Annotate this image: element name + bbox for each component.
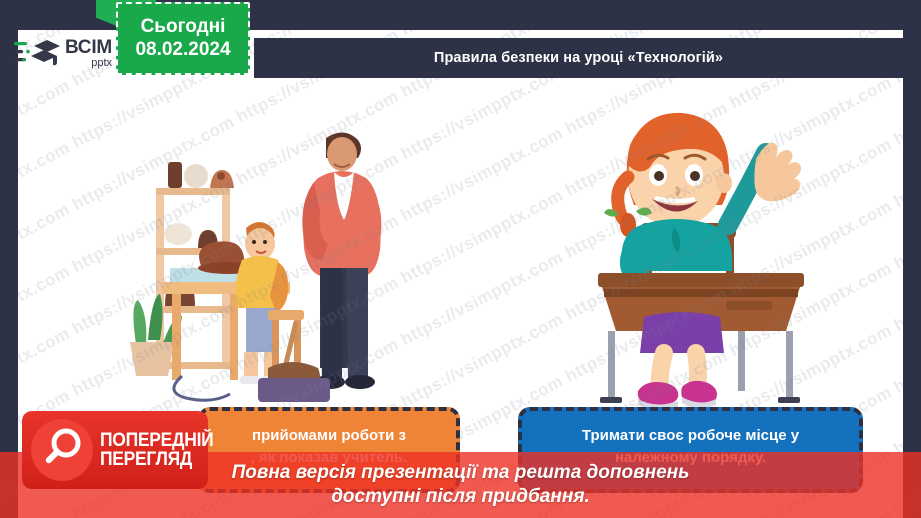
- rule-orange-line-1: прийомами роботи з: [252, 425, 406, 447]
- page-title: Правила безпеки на уроці «Технологій»: [434, 50, 723, 66]
- rule-blue-line-1: Тримати своє робоче місце у: [582, 425, 799, 447]
- date-badge-value: 08.02.2024: [135, 40, 230, 60]
- preview-badge-line-1: ПОПЕРЕДНІЙ: [100, 431, 213, 450]
- preview-badge: ПОПЕРЕДНІЙ ПЕРЕГЛЯД: [22, 411, 208, 489]
- date-badge-label: Сьогодні: [141, 17, 226, 37]
- graduation-cap-icon: [14, 37, 60, 69]
- presentation-slide: https://vsimpptx.com https://vsimpptx.co…: [0, 0, 921, 518]
- promo-line-1: Повна версія презентації та решта доповн…: [232, 461, 690, 485]
- magnifier-icon: [31, 419, 93, 481]
- logo-subname: pptx: [91, 58, 112, 69]
- pottery-workshop-illustration: [118, 110, 398, 410]
- frame-right-edge: [903, 0, 921, 452]
- site-logo[interactable]: ВСІМ pptx: [6, 30, 116, 76]
- promo-line-2: доступні після придбання.: [331, 485, 590, 509]
- slide-title-bar: Правила безпеки на уроці «Технологій»: [254, 38, 903, 78]
- logo-name: ВСІМ: [65, 38, 112, 57]
- date-badge: Сьогодні 08.02.2024: [116, 2, 250, 75]
- preview-badge-line-2: ПЕРЕГЛЯД: [100, 450, 213, 469]
- girl-raising-hand-illustration: [578, 105, 828, 410]
